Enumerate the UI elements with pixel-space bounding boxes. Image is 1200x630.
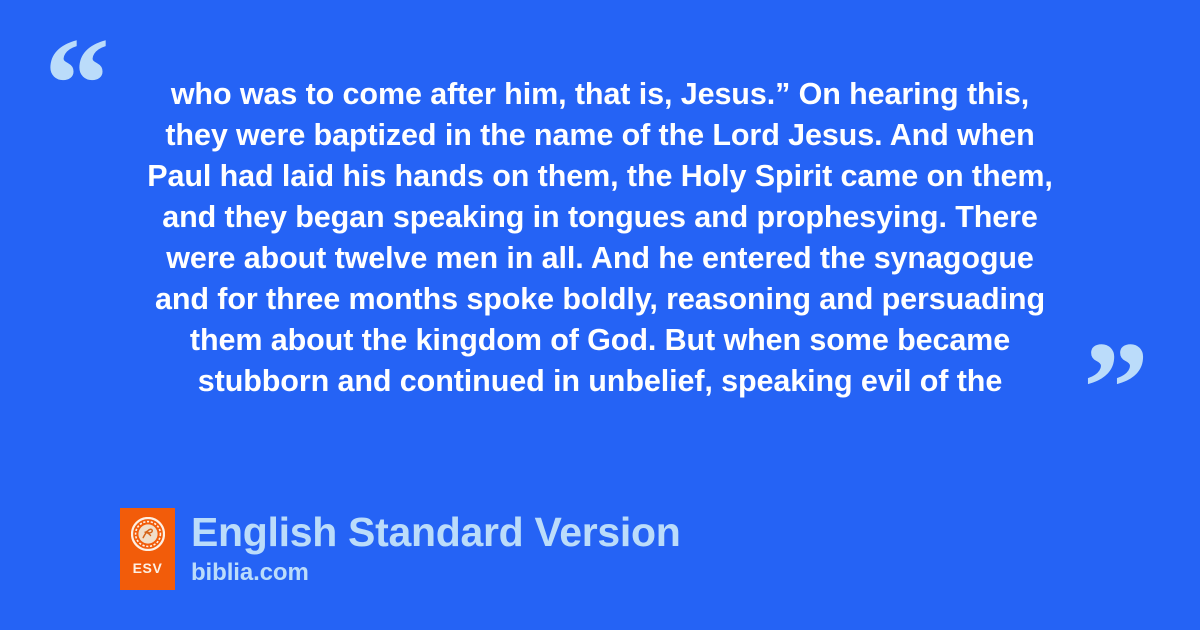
quote-line: were about twelve men in all. And he ent… <box>100 238 1100 279</box>
esv-badge-label: ESV <box>133 560 163 576</box>
quote-line: stubborn and continued in unbelief, spea… <box>100 361 1100 402</box>
quote-line: they were baptized in the name of the Lo… <box>100 115 1100 156</box>
attribution: ESV English Standard Version biblia.com <box>120 508 680 590</box>
attribution-text: English Standard Version biblia.com <box>191 508 680 588</box>
esv-badge: ESV <box>120 508 175 590</box>
quote-text-block: who was to come after him, that is, Jesu… <box>100 74 1100 402</box>
quote-line: who was to come after him, that is, Jesu… <box>100 74 1100 115</box>
quote-card: “ who was to come after him, that is, Je… <box>0 0 1200 630</box>
version-name: English Standard Version <box>191 509 680 556</box>
esv-seal-icon <box>131 517 165 551</box>
close-quote-icon: ” <box>1083 322 1151 454</box>
quote-line: them about the kingdom of God. But when … <box>100 320 1100 361</box>
quote-line: Paul had laid his hands on them, the Hol… <box>100 156 1100 197</box>
quote-line: and for three months spoke boldly, reaso… <box>100 279 1100 320</box>
quote-line: and they began speaking in tongues and p… <box>100 197 1100 238</box>
site-url[interactable]: biblia.com <box>191 558 680 588</box>
